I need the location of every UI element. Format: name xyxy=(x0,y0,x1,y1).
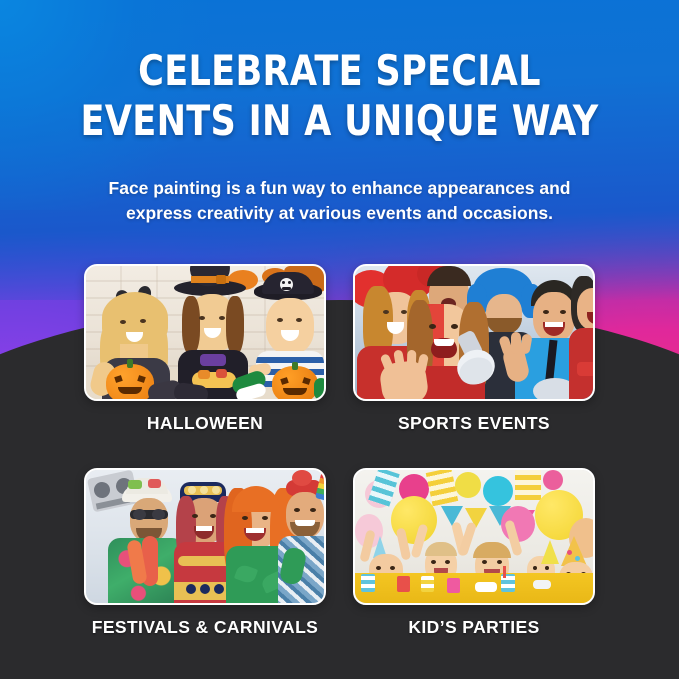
halloween-photo xyxy=(86,266,324,399)
subtitle-line-2: express creativity at various events and… xyxy=(0,201,679,226)
headline-line-1: CELEBRATE SPECIAL xyxy=(138,46,541,95)
event-card-sports[interactable]: SPORTS EVENTS xyxy=(353,264,595,434)
card-row-2: FESTIVALS & CARNIVALS xyxy=(0,468,679,664)
festivals-card-image xyxy=(84,468,326,605)
halloween-card-image xyxy=(84,264,326,401)
subtitle: Face painting is a fun way to enhance ap… xyxy=(0,176,679,226)
card-caption-halloween: HALLOWEEN xyxy=(84,413,326,434)
sports-photo xyxy=(355,266,593,399)
headline-line-2: EVENTS IN A UNIQUE WAY xyxy=(24,96,655,146)
kids-photo xyxy=(355,470,593,603)
poster: CELEBRATE SPECIAL EVENTS IN A UNIQUE WAY… xyxy=(0,0,679,679)
card-row-1: HALLOWEEN xyxy=(0,264,679,460)
event-card-festivals[interactable]: FESTIVALS & CARNIVALS xyxy=(84,468,326,638)
card-caption-festivals: FESTIVALS & CARNIVALS xyxy=(84,617,326,638)
kids-card-image xyxy=(353,468,595,605)
sports-card-image xyxy=(353,264,595,401)
card-caption-sports: SPORTS EVENTS xyxy=(353,413,595,434)
page-title: CELEBRATE SPECIAL EVENTS IN A UNIQUE WAY xyxy=(24,46,655,146)
event-card-grid: HALLOWEEN xyxy=(0,264,679,664)
festivals-photo xyxy=(86,470,324,603)
card-caption-kids: KID’S PARTIES xyxy=(353,617,595,638)
event-card-halloween[interactable]: HALLOWEEN xyxy=(84,264,326,434)
event-card-kids[interactable]: KID’S PARTIES xyxy=(353,468,595,638)
subtitle-line-1: Face painting is a fun way to enhance ap… xyxy=(109,178,571,198)
